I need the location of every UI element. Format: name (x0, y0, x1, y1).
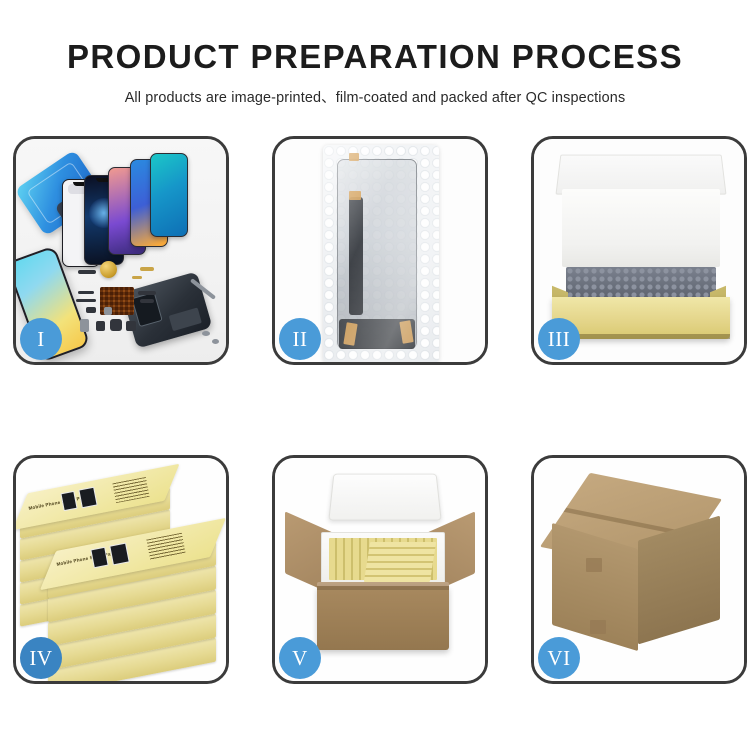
step-badge-6: VI (538, 637, 580, 679)
small-part (126, 321, 136, 331)
process-step-grid: I II (13, 136, 740, 684)
tape-patch (590, 620, 606, 634)
small-part (80, 319, 89, 332)
foam-lid (328, 474, 441, 521)
step-badge-5: V (279, 637, 321, 679)
small-part (78, 270, 96, 274)
step-card-1[interactable]: I (13, 136, 229, 365)
step-badge-1: I (20, 318, 62, 360)
sealed-carton-icon: VI (534, 458, 744, 681)
packed-retail-boxes (364, 542, 436, 582)
step-card-6[interactable]: VI (531, 455, 747, 684)
small-part (110, 319, 122, 331)
page-subtitle: All products are image-printed、film-coat… (0, 86, 750, 107)
tape-piece (349, 153, 359, 161)
phone-parts-icon: I (16, 139, 226, 362)
step-badge-3: III (538, 318, 580, 360)
step-card-5[interactable]: V (272, 455, 488, 684)
bubble-wrap-sheet (323, 145, 439, 362)
small-part (96, 321, 105, 331)
step-badge-2: II (279, 318, 321, 360)
white-foam-back (562, 189, 720, 267)
small-part (140, 299, 154, 303)
small-part (138, 291, 156, 295)
small-part (78, 291, 94, 294)
grey-foam-insert (566, 267, 716, 299)
phone-screen-teal (150, 153, 188, 237)
box-stack-icon: Mobile Phone Spare Parts Mobile Phone Sp… (16, 458, 226, 681)
header: PRODUCT PREPARATION PROCESS All products… (0, 0, 750, 107)
phone-screen-fan (72, 153, 222, 263)
flex-cable (349, 197, 363, 315)
tape-piece (349, 191, 361, 200)
vibration-motor-part (100, 261, 117, 278)
open-box-icon: III (534, 139, 744, 362)
step-card-2[interactable]: II (272, 136, 488, 365)
tape-patch (586, 558, 602, 572)
small-part (202, 331, 210, 336)
step-card-3[interactable]: III (531, 136, 747, 365)
box-thumb-image (109, 543, 130, 566)
bubble-wrap-icon: II (275, 139, 485, 362)
page-title: PRODUCT PREPARATION PROCESS (0, 40, 750, 73)
carton-front-panel (317, 586, 449, 650)
step-badge-4: IV (20, 637, 62, 679)
step-card-4[interactable]: Mobile Phone Spare Parts Mobile Phone Sp… (13, 455, 229, 684)
open-carton-icon: V (275, 458, 485, 681)
small-part (132, 276, 142, 279)
small-part (212, 339, 219, 344)
product-preparation-infographic: PRODUCT PREPARATION PROCESS All products… (0, 0, 750, 750)
small-part (140, 267, 154, 271)
box-thumb-image (78, 487, 97, 509)
small-part (86, 307, 96, 313)
small-part (104, 307, 112, 315)
small-part (76, 299, 96, 302)
